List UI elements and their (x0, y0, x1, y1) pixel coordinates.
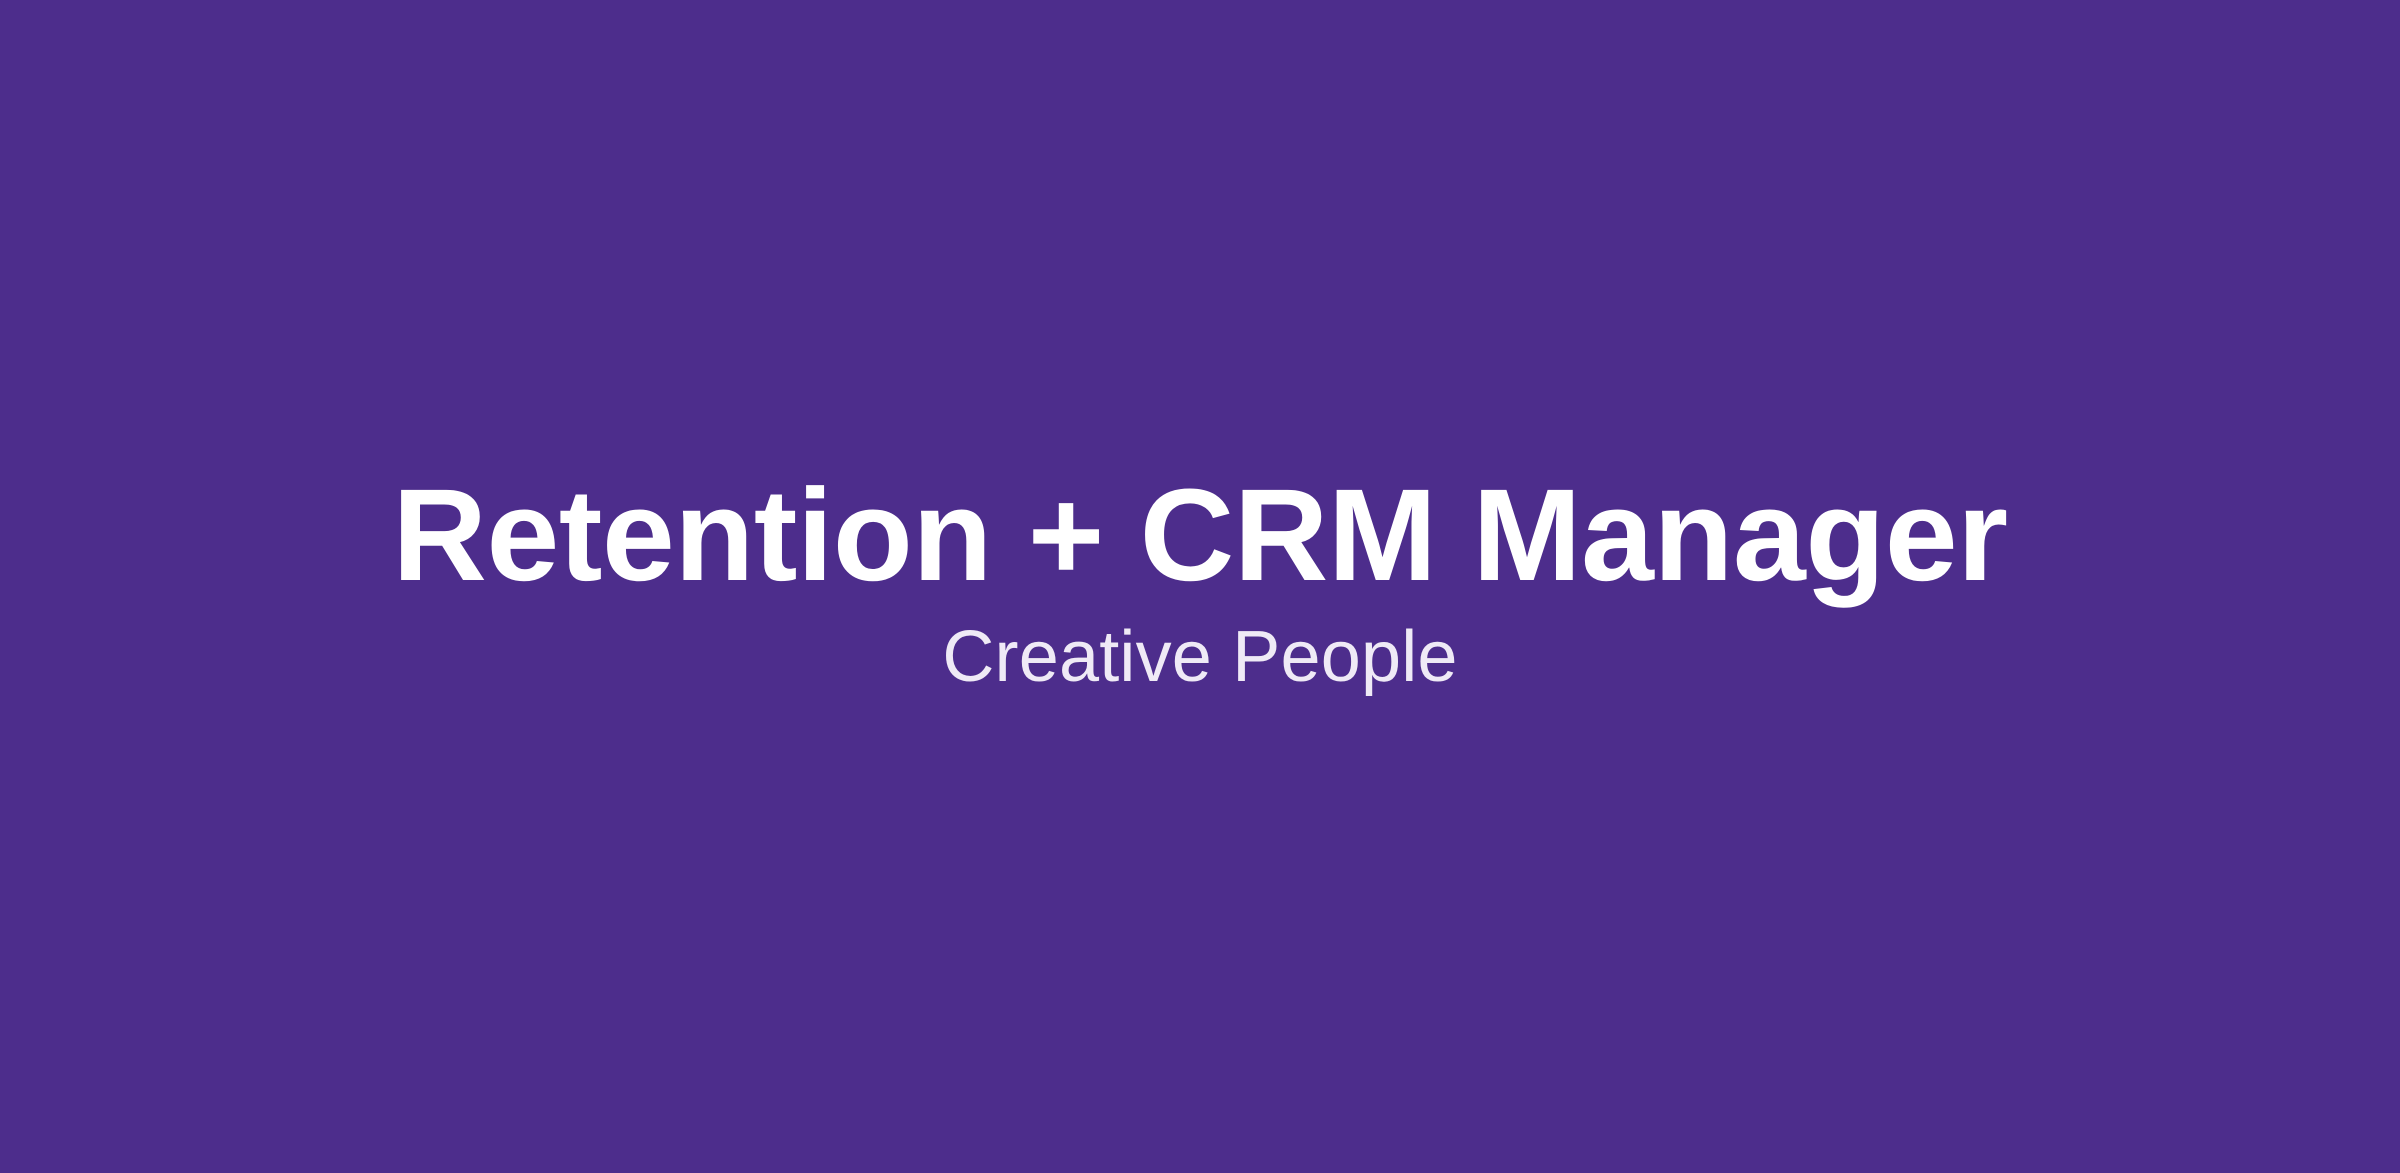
hero-text-block: Retention + CRM Manager Creative People (0, 488, 2400, 685)
job-title: Retention + CRM Manager (392, 488, 2007, 582)
job-posting-splash-card: Retention + CRM Manager Creative People (0, 0, 2400, 1173)
company-name: Creative People (942, 631, 1457, 684)
